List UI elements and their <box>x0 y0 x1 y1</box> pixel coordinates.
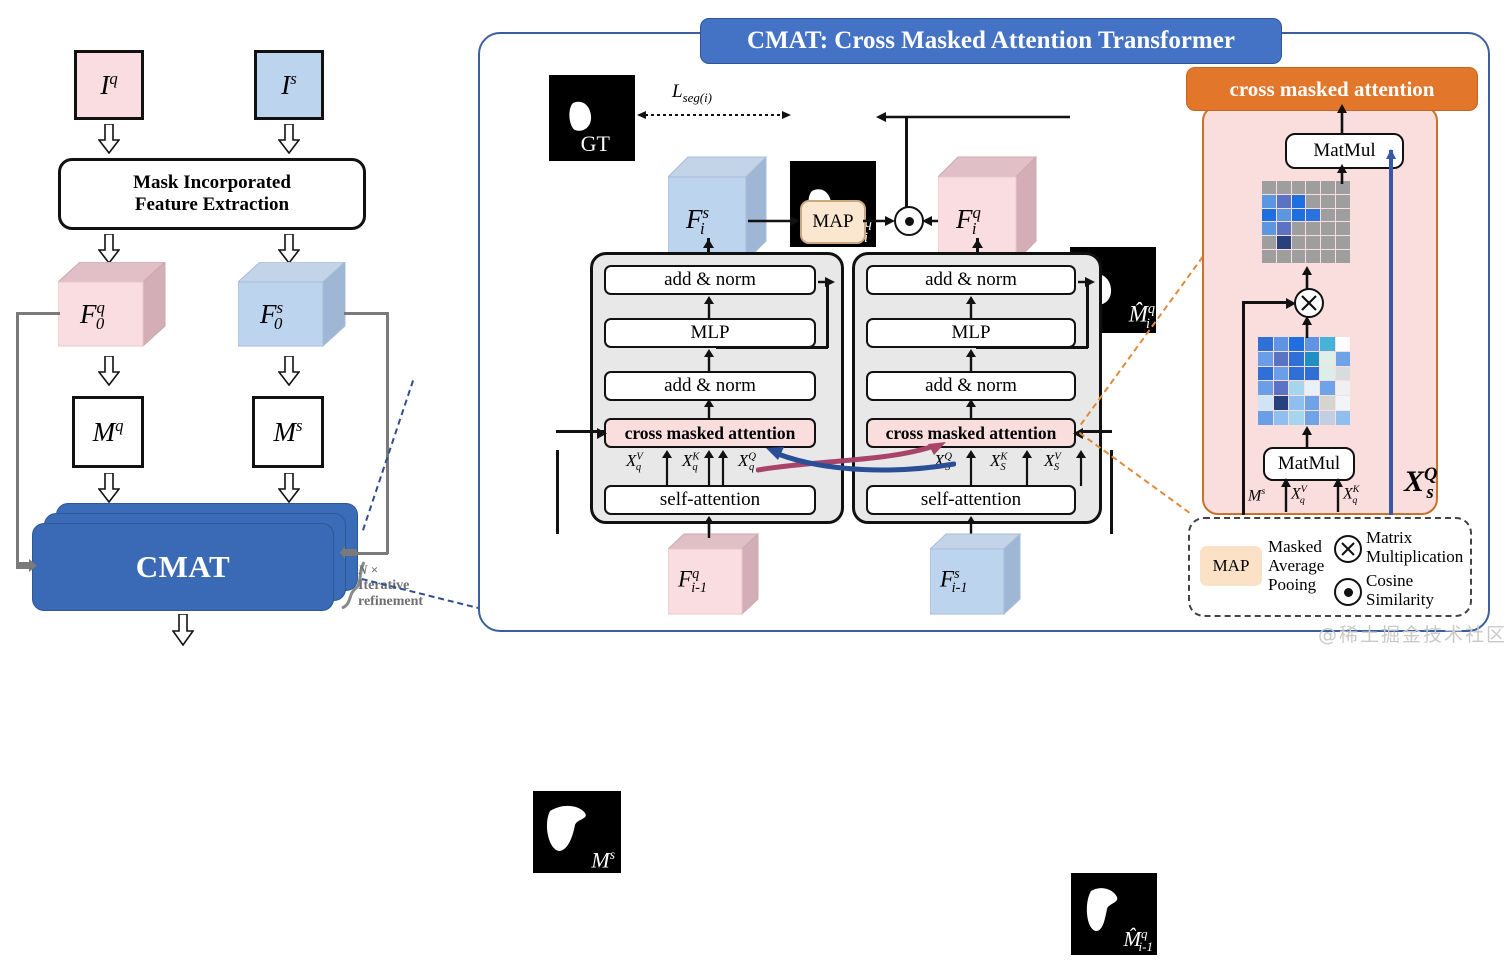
grid-cell <box>1321 222 1335 235</box>
support-feature-i-cube: Fsi <box>668 155 768 265</box>
legend-map-line2: Average <box>1268 556 1324 575</box>
grid-cell <box>1262 222 1276 235</box>
attention-score-grid <box>1258 337 1350 425</box>
grid-cell <box>1292 236 1306 249</box>
grid-cell <box>1262 209 1276 222</box>
grid-cell <box>1292 181 1306 194</box>
grid-cell <box>1306 236 1320 249</box>
grid-cell <box>1336 236 1350 249</box>
query-add-norm-bottom-label: add & norm <box>664 375 756 397</box>
arrow-support-to-map <box>748 214 800 226</box>
map-node[interactable]: MAP <box>800 200 866 244</box>
arrowhead-support-module-out <box>971 236 984 254</box>
support-image-label: Is <box>281 71 297 99</box>
iteration-count: N × <box>358 563 458 578</box>
grid-cell <box>1306 250 1320 263</box>
grid-cell <box>1292 195 1306 208</box>
arrow-down-extractor-left <box>98 234 120 264</box>
grid-cell <box>1306 209 1320 222</box>
grid-cell <box>1305 352 1320 366</box>
grid-cell <box>1262 250 1276 263</box>
arrow-down-query-image <box>98 124 120 154</box>
legend-map-line1: Masked <box>1268 537 1324 556</box>
xsq-wire <box>1389 150 1393 515</box>
grid-cell <box>1336 337 1351 351</box>
support-feature-prev-label: Fsi-1 <box>940 567 967 596</box>
wire-query-mask-prev-left <box>1082 430 1112 433</box>
support-feature-label: Fs0 <box>260 300 282 333</box>
gt-mask-thumb: GT <box>549 75 635 161</box>
legend-cosine-icon <box>1334 578 1362 606</box>
query-skip-bottom <box>716 346 828 349</box>
support-mask-thumb: Ms <box>533 791 621 873</box>
arrowhead-query-module-out <box>702 236 715 254</box>
query-add-norm-top-label: add & norm <box>664 269 756 291</box>
query-image-box: Iq <box>74 50 144 120</box>
arrow-support-cma-to-addnorm <box>966 399 976 424</box>
support-image-box: Is <box>254 50 324 120</box>
gt-mask-caption: GT <box>581 131 610 157</box>
grid-cell <box>1274 411 1289 425</box>
support-mask-thumb-label: Ms <box>591 848 615 871</box>
refined-mask-label: M̂qi <box>1129 302 1150 331</box>
attention-input-ms-label: Ms <box>1248 487 1265 504</box>
arrow-support-v-tick <box>1076 450 1086 491</box>
legend-matmul-icon <box>1334 535 1362 563</box>
masked-attention-grid <box>1262 181 1350 263</box>
grid-cell <box>1292 222 1306 235</box>
query-feature-label: Fq0 <box>80 300 104 333</box>
arrowhead-xsq-to-matmul <box>1385 148 1397 166</box>
query-feature-prev-label: Fqi-1 <box>678 567 707 596</box>
cosine-similarity-icon <box>894 206 924 236</box>
grid-cell <box>1305 396 1320 410</box>
grid-cell <box>1292 250 1306 263</box>
grid-cell <box>1321 209 1335 222</box>
wire-cosine-to-mask <box>905 116 908 214</box>
arrow-query-prev-up <box>704 516 714 543</box>
query-image-label: Iq <box>100 71 117 99</box>
grid-cell <box>1258 367 1273 381</box>
feedback-wire-support-arrow <box>340 546 358 565</box>
arrow-matmul-bottom-out <box>1302 426 1312 453</box>
arrow-support-q-tick <box>966 450 976 491</box>
grid-cell <box>1277 181 1291 194</box>
feedback-wire-query-vertical <box>16 312 19 566</box>
feedback-wire-support-vertical <box>386 312 389 554</box>
grid-cell <box>1262 236 1276 249</box>
cross-masked-attention-title: cross masked attention <box>1186 67 1478 111</box>
support-feature-prev-cube: Fsi-1 <box>930 533 1022 617</box>
xsq-label: XQs <box>1404 466 1434 503</box>
support-mlp-label: MLP <box>951 322 990 344</box>
arrow-query-q-tick <box>704 450 714 491</box>
seg-loss-arrow <box>637 108 791 122</box>
grid-cell <box>1277 209 1291 222</box>
grid-cell <box>1321 250 1335 263</box>
grid-cell <box>1305 367 1320 381</box>
legend-cosine-text: Cosine Similarity <box>1366 571 1434 609</box>
grid-cell <box>1277 250 1291 263</box>
support-skip-bottom <box>976 346 1088 349</box>
query-feature-cube: Fq0 <box>58 262 166 348</box>
arrow-query-mlp-to-addnorm <box>704 296 714 324</box>
grid-cell <box>1274 396 1289 410</box>
support-add-norm-bottom-label: add & norm <box>925 375 1017 397</box>
attention-input-xvq-label: XVq <box>1291 485 1305 505</box>
grid-cell <box>1306 195 1320 208</box>
arrow-down-support-feature <box>278 356 300 386</box>
grid-cell <box>1320 396 1335 410</box>
arrow-matmul-top-out <box>1337 104 1347 139</box>
grid-cell <box>1336 195 1350 208</box>
grid-cell <box>1274 337 1289 351</box>
arrowhead-support-mask-to-cma <box>594 426 608 444</box>
attention-input-xkq-label: XKq <box>1343 485 1357 505</box>
grid-cell <box>1289 367 1304 381</box>
grid-cell <box>1258 411 1273 425</box>
arrow-query-cma-to-addnorm <box>704 399 714 424</box>
query-mask-box: Mq <box>72 396 144 468</box>
support-mask-label: Ms <box>273 418 302 446</box>
grid-cell <box>1289 352 1304 366</box>
support-feature-i-label: Fsi <box>686 205 705 238</box>
grid-cell <box>1305 381 1320 395</box>
arrowhead-ms-into-mm <box>1284 296 1297 314</box>
legend-map-text: Masked Average Pooing <box>1268 537 1324 594</box>
grid-cell <box>1320 337 1335 351</box>
arrow-support-addnorm-to-mlp <box>966 349 976 377</box>
feedback-wire-query-top <box>16 312 60 315</box>
arrow-map-to-cosine <box>863 214 895 226</box>
arrow-query-k-tick <box>718 450 728 491</box>
support-skip-arrowhead <box>1078 274 1096 292</box>
cmat-panel-title: CMAT: Cross Masked Attention Transformer <box>700 18 1282 64</box>
query-xq-label: XQq <box>738 452 754 474</box>
grid-cell <box>1258 337 1273 351</box>
grid-cell <box>1336 411 1351 425</box>
support-feature-cube: Fs0 <box>238 262 346 348</box>
query-xk-label: XKq <box>682 452 698 474</box>
grid-cell <box>1262 181 1276 194</box>
iteration-line2: refinement <box>358 594 458 610</box>
grid-cell <box>1274 367 1289 381</box>
legend-matmul-text: Matrix Multiplication <box>1366 528 1463 566</box>
legend-matmul-line1: Matrix <box>1366 528 1463 547</box>
query-feature-i-cube: Fqi <box>938 155 1038 265</box>
grid-cell <box>1277 195 1291 208</box>
legend-map-chip-label: MAP <box>1213 556 1250 576</box>
grid-cell <box>1289 396 1304 410</box>
arrow-support-mlp-to-addnorm <box>966 296 976 324</box>
feedback-wire-query-arrow <box>16 559 38 578</box>
grid-cell <box>1258 381 1273 395</box>
legend-cosine-line1: Cosine <box>1366 571 1434 590</box>
matmul-top-label: MatMul <box>1313 140 1375 162</box>
grid-cell <box>1277 222 1291 235</box>
grid-cell <box>1277 236 1291 249</box>
grid-cell <box>1320 411 1335 425</box>
support-add-norm-top-label: add & norm <box>925 269 1017 291</box>
watermark: @稀土掘金技术社区 <box>1318 620 1507 647</box>
query-mask-label: Mq <box>93 418 124 446</box>
cross-masked-attention-title-text: cross masked attention <box>1230 77 1435 102</box>
query-mlp-label: MLP <box>690 322 729 344</box>
grid-cell <box>1306 181 1320 194</box>
matmul-bottom-label: MatMul <box>1278 453 1340 475</box>
arrow-down-cmat-output <box>172 614 194 644</box>
legend-map-line3: Pooing <box>1268 575 1324 594</box>
query-self-attention-label: self-attention <box>660 489 760 511</box>
grid-cell <box>1320 367 1335 381</box>
grid-cell <box>1262 195 1276 208</box>
arrow-xkq-in <box>1333 478 1343 517</box>
iteration-note: N × Iterative refinement <box>358 563 458 610</box>
grid-cell <box>1336 396 1351 410</box>
query-skip-arrowhead <box>818 274 836 292</box>
grid-cell <box>1336 222 1350 235</box>
feature-extraction-line1: Mask Incorporated <box>133 172 291 194</box>
grid-cell <box>1336 381 1351 395</box>
cmat-panel-title-text: CMAT: Cross Masked Attention Transformer <box>747 27 1235 55</box>
legend-map-chip: MAP <box>1200 546 1262 586</box>
grid-cell <box>1274 381 1289 395</box>
map-node-label: MAP <box>812 211 853 233</box>
query-add-norm-top: add & norm <box>604 265 816 295</box>
arrow-support-k-tick <box>1022 450 1032 491</box>
arrow-mm-to-masked-grid <box>1302 266 1312 295</box>
grid-cell <box>1336 367 1351 381</box>
query-feature-i-label: Fqi <box>956 205 977 238</box>
arrow-down-support-mask <box>278 473 300 503</box>
query-mask-prev-label: M̂qi-1 <box>1124 927 1153 953</box>
wire-query-mask-prev-up <box>1110 450 1113 534</box>
grid-cell <box>1258 352 1273 366</box>
grid-cell <box>1336 250 1350 263</box>
grid-cell <box>1258 396 1273 410</box>
seg-loss-label: Lseg(i) <box>672 82 712 105</box>
grid-cell <box>1289 411 1304 425</box>
arrow-query-v-tick <box>662 450 672 491</box>
arrow-attgrid-to-mm <box>1302 316 1312 343</box>
grid-cell <box>1321 236 1335 249</box>
arrow-down-query-mask <box>98 473 120 503</box>
support-xk-label: XKS <box>990 452 1006 474</box>
grid-cell <box>1320 381 1335 395</box>
grid-cell <box>1306 222 1320 235</box>
feedback-wire-support-top <box>344 312 388 315</box>
feature-extraction-line2: Feature Extraction <box>133 194 291 216</box>
arrow-masked-grid-to-matmul <box>1337 164 1347 189</box>
query-mask-prev-thumb: M̂qi-1 <box>1071 873 1157 955</box>
grid-cell <box>1292 209 1306 222</box>
arrow-down-support-image <box>278 124 300 154</box>
query-feature-prev-cube: Fqi-1 <box>668 533 760 617</box>
legend-matmul-line2: Multiplication <box>1366 547 1463 566</box>
grid-cell <box>1289 381 1304 395</box>
query-xv-label: XVq <box>626 452 641 474</box>
support-mask-box: Ms <box>252 396 324 468</box>
arrow-xvq-in <box>1281 478 1291 517</box>
cmat-block[interactable]: CMAT <box>32 523 334 611</box>
arrow-down-extractor-right <box>278 234 300 264</box>
wire-support-mask-up <box>556 450 559 534</box>
legend-cosine-line2: Similarity <box>1366 590 1434 609</box>
support-self-attention-label: self-attention <box>921 489 1021 511</box>
arrow-query-addnorm-to-mlp <box>704 349 714 377</box>
support-xv-label: XVS <box>1044 452 1059 474</box>
grid-cell <box>1321 181 1335 194</box>
arrow-down-query-feature <box>98 356 120 386</box>
grid-cell <box>1320 352 1335 366</box>
grid-cell <box>1336 209 1350 222</box>
grid-cell <box>1336 352 1351 366</box>
grid-cell <box>1321 195 1335 208</box>
feature-extraction-box: Mask Incorporated Feature Extraction <box>58 158 366 230</box>
grid-cell <box>1305 411 1320 425</box>
cross-attention-swap-arrows <box>756 440 956 480</box>
wire-ms-bypass-vertical <box>1242 301 1245 515</box>
grid-cell <box>1274 352 1289 366</box>
support-add-norm-top: add & norm <box>866 265 1076 295</box>
cmat-block-label: CMAT <box>136 549 230 585</box>
